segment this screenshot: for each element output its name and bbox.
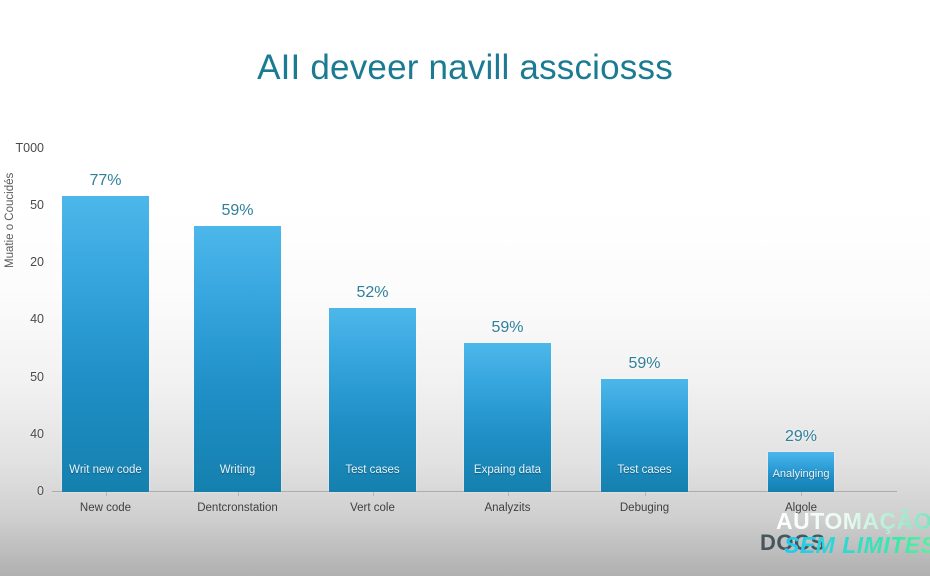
bar-inner-label: Test cases — [601, 464, 688, 476]
bar-inner-label: Writ new code — [62, 464, 149, 476]
bar-inner-label: Expaing data — [464, 464, 551, 476]
bar-value-label: 29% — [768, 428, 834, 446]
bar-group[interactable]: 59% Test cases Debuging — [601, 379, 688, 492]
bar-inner-label: Test cases — [329, 464, 416, 476]
bar[interactable]: Test cases — [329, 308, 416, 492]
bar-group[interactable]: 59% Expaing data Analyzits — [464, 343, 551, 492]
y-tick-label: 40 — [30, 312, 44, 326]
watermark-docs-text: DOCS — [760, 530, 826, 556]
x-axis-category-label: Vert cole — [315, 502, 430, 514]
slide-canvas: AII deveer navill assciosss Muatie o Cou… — [0, 0, 930, 576]
bar-inner-label: Writing — [194, 464, 281, 476]
bar[interactable]: Analyinging — [768, 452, 834, 492]
y-tick-label: 50 — [30, 198, 44, 212]
x-tick-mark — [106, 492, 107, 496]
bar[interactable]: Expaing data — [464, 343, 551, 492]
x-axis-category-label: Analyzits — [450, 502, 565, 514]
bar-value-label: 59% — [601, 355, 688, 373]
chart-plot-area: Muatie o Coucidés T000 50 20 40 50 40 0 … — [52, 148, 897, 492]
watermark-logo: DOCS AUTOMAÇÃO SEM LIMITES — [754, 508, 924, 568]
x-axis-category-label: New code — [48, 502, 163, 514]
bar-value-label: 59% — [194, 202, 281, 220]
page-title: AII deveer navill assciosss — [0, 48, 930, 88]
y-tick-label: 50 — [30, 370, 44, 384]
bar-value-label: 77% — [62, 172, 149, 190]
x-tick-mark — [238, 492, 239, 496]
bar[interactable]: Test cases — [601, 379, 688, 492]
x-tick-mark — [801, 492, 802, 496]
bar-group[interactable]: 59% Writing Dentcronstation — [194, 226, 281, 492]
x-tick-mark — [645, 492, 646, 496]
x-tick-mark — [508, 492, 509, 496]
y-tick-label: 0 — [37, 484, 44, 498]
y-tick-label: 40 — [30, 427, 44, 441]
bar-value-label: 59% — [464, 319, 551, 337]
bar[interactable]: Writ new code — [62, 196, 149, 492]
watermark-brand-bottom: SEM LIMITES — [784, 532, 930, 559]
bar-inner-label: Analyinging — [768, 468, 834, 480]
bar-group[interactable]: 52% Test cases Vert cole — [329, 308, 416, 492]
x-tick-mark — [373, 492, 374, 496]
bar-group[interactable]: 29% Analyinging Algole — [768, 452, 834, 492]
x-axis-category-label: Debuging — [587, 502, 702, 514]
x-axis-category-label: Algole — [754, 502, 848, 514]
bar-group[interactable]: 77% Writ new code New code — [62, 196, 149, 492]
x-axis-category-label: Dentcronstation — [180, 502, 295, 514]
y-tick-label: T000 — [16, 141, 45, 155]
bar[interactable]: Writing — [194, 226, 281, 492]
bar-value-label: 52% — [329, 284, 416, 302]
y-axis-title: Muatie o Coucidés — [4, 68, 16, 268]
y-tick-label: 20 — [30, 255, 44, 269]
